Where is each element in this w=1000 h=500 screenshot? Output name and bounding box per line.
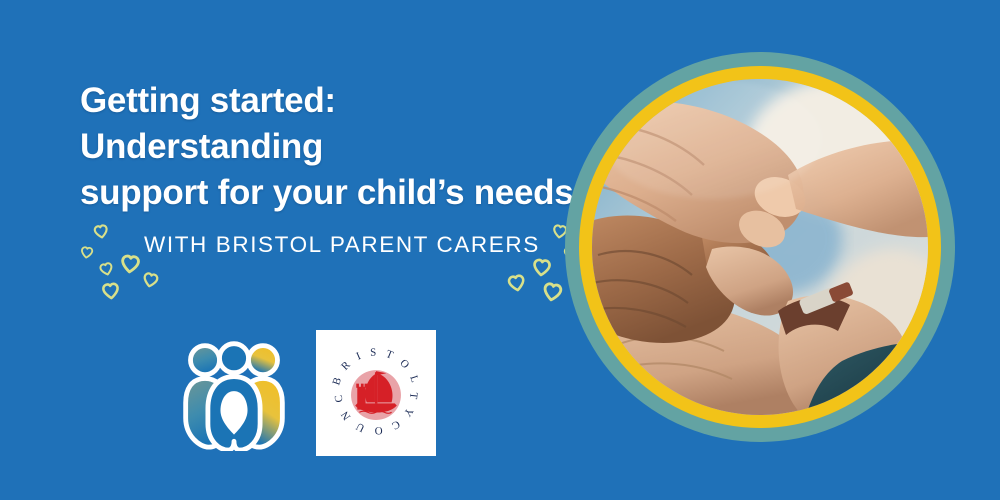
photo-inner-ring <box>579 66 941 428</box>
heart-cluster-left <box>76 216 166 316</box>
heart-icon <box>119 253 142 280</box>
heart-icon <box>531 257 552 283</box>
heart-icon <box>506 273 528 299</box>
subtitle-row: WITH BRISTOL PARENT CARERS <box>80 216 640 316</box>
page-title: Getting started: Understanding support f… <box>80 78 580 217</box>
heart-icon <box>98 261 116 283</box>
text-block: Getting started: Understanding support f… <box>80 78 580 217</box>
heart-icon <box>101 281 121 306</box>
logo-row: · B R I S T O L · C I T Y C O U N C I L <box>176 330 436 456</box>
photo-outer-ring <box>565 52 955 442</box>
heart-icon <box>92 223 110 245</box>
heart-icon <box>79 245 94 265</box>
hands-photo <box>592 79 928 415</box>
subtitle: WITH BRISTOL PARENT CARERS <box>144 232 540 258</box>
heart-icon <box>140 271 160 295</box>
heart-icon <box>540 280 564 308</box>
bristol-city-council-logo: · B R I S T O L · C I T Y C O U N C I L <box>316 330 436 456</box>
event-banner: Getting started: Understanding support f… <box>0 0 1000 500</box>
bristol-parent-carers-logo <box>176 335 292 451</box>
